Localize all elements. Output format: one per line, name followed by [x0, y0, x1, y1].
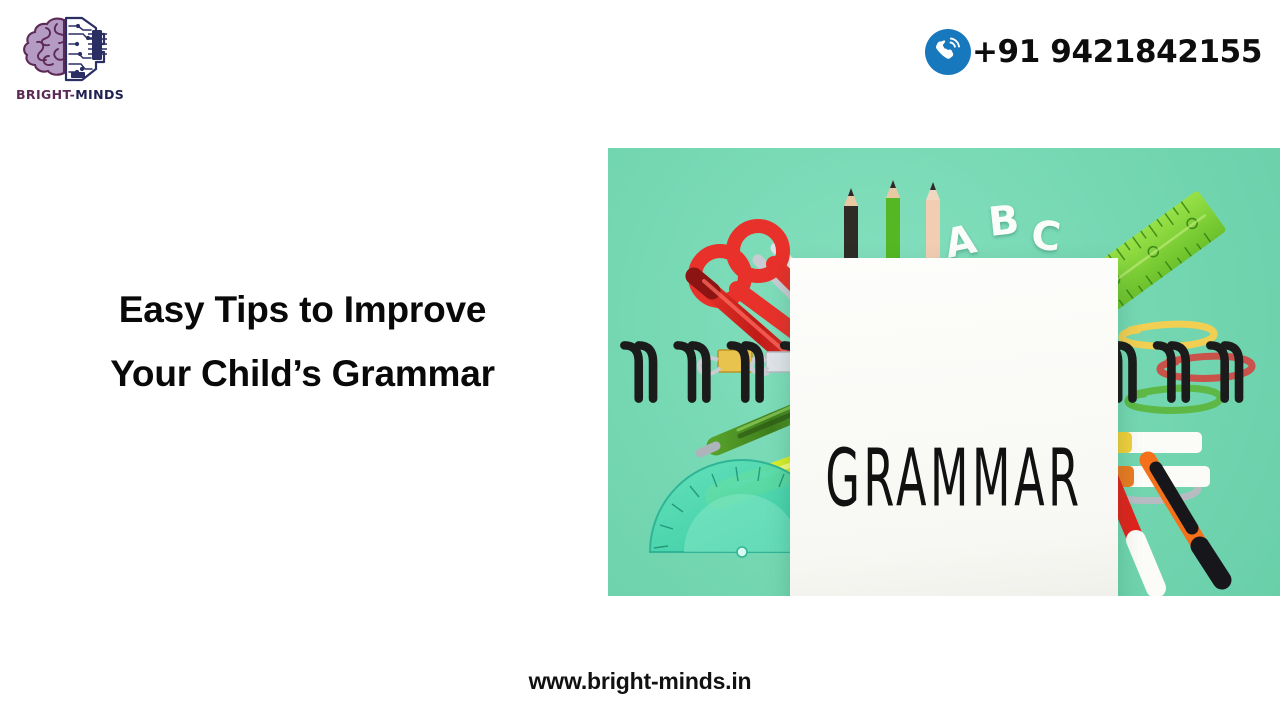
spiral-notepad: GRAMMAR [790, 258, 1118, 596]
brand-wordmark: BRIGHT-MINDS [16, 87, 120, 102]
website-url[interactable]: www.bright-minds.in [0, 668, 1280, 695]
notepad-grammar-text: GRAMMAR [806, 432, 1101, 525]
brand-word-part2: MINDS [75, 87, 124, 102]
page-title: Easy Tips to Improve Your Child’s Gramma… [0, 278, 605, 405]
brand-logo[interactable]: BRIGHT-MINDS [16, 12, 120, 112]
brain-circuit-logo-icon [16, 12, 120, 86]
slide-canvas: BRIGHT-MINDS +91 9421842155 Easy Tips to… [0, 0, 1280, 720]
headline-line-2: Your Child’s Grammar [0, 342, 605, 406]
contact-block[interactable]: +91 9421842155 [924, 28, 1262, 76]
headline-line-1: Easy Tips to Improve [0, 278, 605, 342]
phone-number-text: +91 9421842155 [972, 37, 1262, 68]
phone-call-icon[interactable] [924, 28, 972, 76]
hero-image: A B C [608, 148, 1280, 596]
brand-word-part1: BRIGHT- [16, 87, 75, 102]
